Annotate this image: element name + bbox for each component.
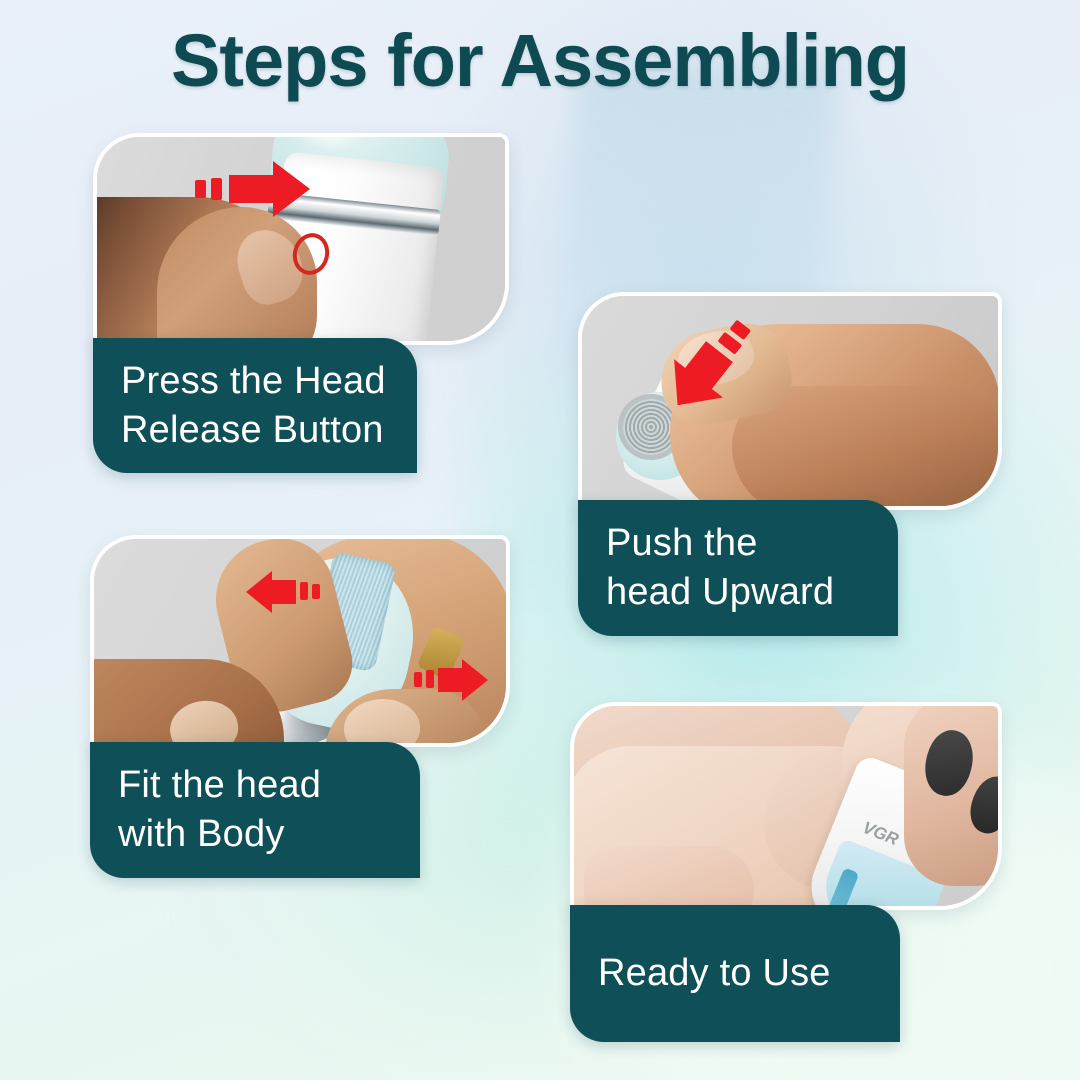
step-1-label: Press the Head Release Button [93, 338, 417, 473]
arrow-right-icon [195, 159, 313, 219]
step-2-illustration: VGR [582, 296, 998, 506]
step-1-illustration [97, 137, 505, 341]
step-2-photo: VGR [578, 292, 1002, 510]
step-4-photo: VGR [570, 702, 1002, 910]
arrow-left-icon [244, 569, 322, 615]
step-card-4: VGR Ready to Use [570, 702, 1002, 1042]
step-1-photo [93, 133, 509, 345]
toes [584, 846, 754, 906]
step-1-label-line-1: Press the Head [121, 357, 389, 406]
step-card-2: VGR Push the head Upward [578, 292, 1002, 636]
step-4-label-line-1: Ready to Use [598, 949, 872, 998]
arrow-down-left-icon [654, 320, 764, 410]
step-1-label-line-2: Release Button [121, 406, 389, 455]
page-title: Steps for Assembling [0, 18, 1080, 103]
step-2-label: Push the head Upward [578, 500, 898, 636]
step-2-label-line-1: Push the [606, 519, 870, 568]
step-3-label-line-2: with Body [118, 810, 392, 859]
step-4-label: Ready to Use [570, 905, 900, 1042]
step-2-label-line-2: head Upward [606, 568, 870, 617]
step-3-label-line-1: Fit the head [118, 761, 392, 810]
arrow-right-icon [412, 657, 490, 703]
step-3-photo [90, 535, 510, 747]
step-card-1: Press the Head Release Button [93, 133, 513, 473]
step-4-illustration: VGR [574, 706, 998, 906]
step-card-3: Fit the head with Body [90, 535, 510, 879]
step-3-illustration [94, 539, 506, 743]
step-3-label: Fit the head with Body [90, 742, 420, 878]
